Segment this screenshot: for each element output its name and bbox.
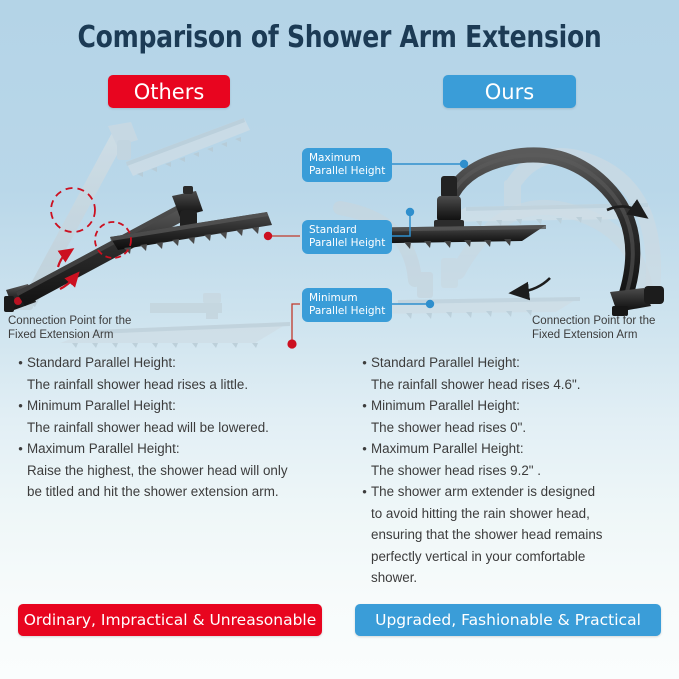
list-item: • The shower arm extender is designed [358, 481, 668, 503]
connection-point-right-line1: Connection Point for the [532, 314, 655, 328]
list-item-detail-cont: be titled and hit the shower extension a… [14, 481, 336, 503]
callout-minimum-parallel-height: Minimum Parallel Height [302, 288, 392, 322]
callout-minimum-line2: Parallel Height [309, 305, 385, 318]
list-item-paragraph-line1: The shower arm extender is designed [371, 481, 668, 503]
callout-maximum-line1: Maximum [309, 152, 385, 165]
connection-point-right-line2: Fixed Extension Arm [532, 328, 655, 342]
list-item: • Maximum Parallel Height: [14, 438, 336, 460]
list-item-title: Maximum Parallel Height: [371, 438, 668, 460]
banner-others-label: Ordinary, Impractical & Unreasonable [24, 611, 317, 629]
bullet-icon: • [14, 438, 27, 460]
connection-point-left-line1: Connection Point for the [8, 314, 131, 328]
bullet-icon: • [358, 438, 371, 460]
list-item-title: Standard Parallel Height: [27, 352, 336, 374]
list-item-title: Standard Parallel Height: [371, 352, 668, 374]
list-item-detail: The rainfall shower head will be lowered… [14, 417, 336, 439]
list-item: • Minimum Parallel Height: [358, 395, 668, 417]
callout-standard-parallel-height: Standard Parallel Height [302, 220, 392, 254]
connection-point-left-line2: Fixed Extension Arm [8, 328, 131, 342]
ours-rotation-arrow-lower [520, 278, 550, 292]
list-item: • Standard Parallel Height: [358, 352, 668, 374]
banner-others-verdict: Ordinary, Impractical & Unreasonable [18, 604, 322, 636]
banner-ours-verdict: Upgraded, Fashionable & Practical [355, 604, 661, 636]
callout-maximum-line2: Parallel Height [309, 165, 385, 178]
ours-feature-list: • Standard Parallel Height: The rainfall… [358, 352, 668, 589]
list-item-paragraph-line4: perfectly vertical in your comfortable [358, 546, 668, 568]
callout-minimum-line1: Minimum [309, 292, 385, 305]
connection-point-label-right: Connection Point for the Fixed Extension… [532, 314, 655, 342]
others-feature-list: • Standard Parallel Height: The rainfall… [14, 352, 336, 503]
callout-standard-line2: Parallel Height [309, 237, 385, 250]
list-item-detail: Raise the highest, the shower head will … [14, 460, 336, 482]
list-item-title: Minimum Parallel Height: [371, 395, 668, 417]
callout-maximum-parallel-height: Maximum Parallel Height [302, 148, 392, 182]
list-item-detail: The rainfall shower head rises a little. [14, 374, 336, 396]
list-item: • Maximum Parallel Height: [358, 438, 668, 460]
others-solid-arm [4, 186, 272, 312]
bullet-icon: • [14, 352, 27, 374]
bullet-icon: • [14, 395, 27, 417]
list-item-paragraph-line5: shower. [358, 567, 668, 589]
connection-point-label-left: Connection Point for the Fixed Extension… [8, 314, 131, 342]
bullet-icon: • [358, 395, 371, 417]
connector-minimum-left [292, 304, 300, 342]
callout-standard-line1: Standard [309, 224, 385, 237]
bullet-icon: • [358, 352, 371, 374]
list-item-title: Minimum Parallel Height: [27, 395, 336, 417]
list-item-detail: The shower head rises 9.2" . [358, 460, 668, 482]
list-item-title: Maximum Parallel Height: [27, 438, 336, 460]
list-item-detail: The shower head rises 0". [358, 417, 668, 439]
list-item: • Minimum Parallel Height: [14, 395, 336, 417]
list-item-paragraph-line3: ensuring that the shower head remains [358, 524, 668, 546]
list-item: • Standard Parallel Height: [14, 352, 336, 374]
bullet-icon: • [358, 481, 371, 503]
list-item-paragraph-line2: to avoid hitting the rain shower head, [358, 503, 668, 525]
list-item-detail: The rainfall shower head rises 4.6". [358, 374, 668, 396]
banner-ours-label: Upgraded, Fashionable & Practical [375, 611, 641, 629]
